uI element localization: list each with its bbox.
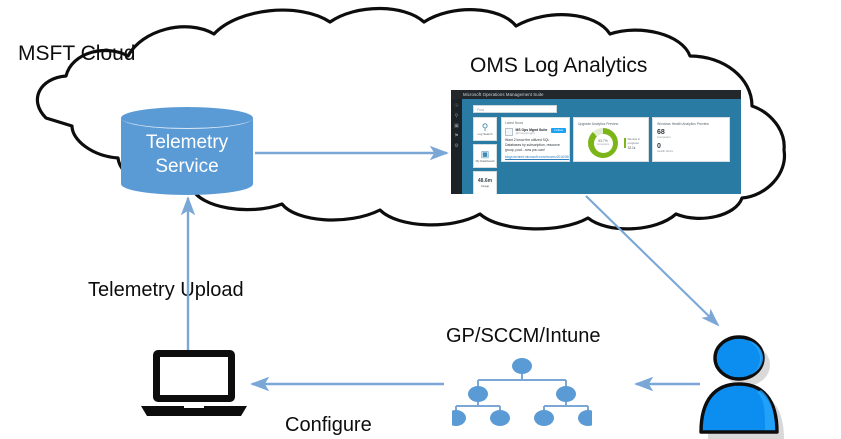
- cylinder-label-line1: Telemetry: [121, 131, 253, 155]
- upgrade-donut-chart: 53.7% Computers: [588, 128, 618, 158]
- cylinder-label-line2: Service: [121, 155, 253, 179]
- arrow-oms-to-admin: [586, 196, 718, 325]
- donut-label: Computers: [597, 143, 610, 146]
- arrow-connectors: [0, 0, 841, 439]
- diagram-canvas: MSFT Cloud OMS Log Analytics Telemetry U…: [0, 0, 841, 439]
- donut-center-text: 53.7% Computers: [588, 128, 618, 158]
- cylinder-label: Telemetry Service: [121, 131, 253, 179]
